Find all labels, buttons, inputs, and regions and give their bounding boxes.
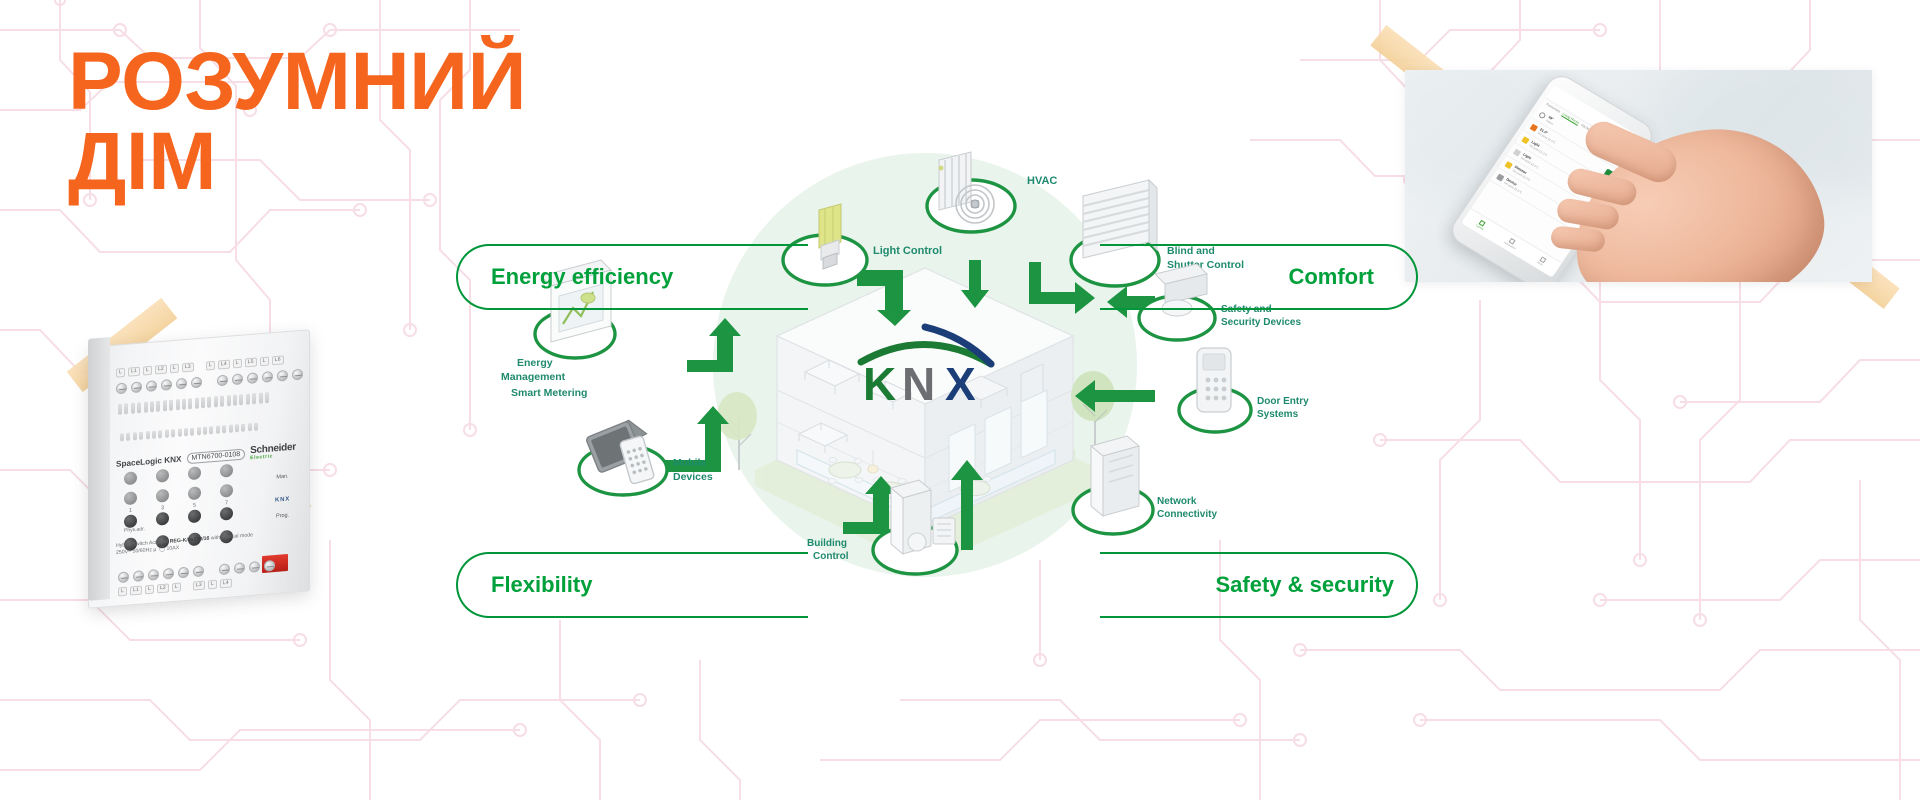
terminal-label: L6 [272,355,284,365]
screw-terminal [191,377,202,389]
node-hvac [927,152,1015,232]
terminal-label: L [145,585,154,595]
device-product-name: SpaceLogic KNX [116,455,182,469]
screw-terminal [234,562,245,574]
terminal-label: L [206,361,215,371]
button-number: 5 [188,502,201,509]
terminal-label: L [116,368,125,378]
knx-diagram-svg: HVAC Light Control [455,150,1465,580]
device-man-label: Man. [275,473,290,481]
label-door-2: Systems [1257,409,1299,420]
intercom-icon [1197,348,1231,412]
terminal-label: L [172,583,181,593]
label-safety-2: Security Devices [1221,317,1301,328]
screw-terminal [148,569,159,581]
screw-terminal [118,571,129,583]
pill-comfort[interactable]: Comfort [1100,244,1418,310]
indicator-dot [124,471,137,485]
device-knx-mark: KNX [275,497,290,506]
screw-terminal [131,381,142,393]
label-hvac: HVAC [1027,175,1057,187]
device-prog-label: Prog. [275,512,290,520]
label-energy-1: Energy [517,357,553,369]
terminal-label: L [143,366,152,376]
terminal-label: L [233,359,242,369]
headline-line-2: ДІМ [68,122,526,202]
footnote-part-4: 10AX [166,545,179,552]
screw-terminal [292,369,303,381]
screw-terminal [193,565,204,577]
terminal-label: L5 [245,358,257,368]
label-energy-3: Smart Metering [511,387,587,399]
button-number: 3 [156,505,169,512]
indicator-dot [124,491,137,505]
node-door-entry [1179,348,1251,432]
terminal-label: L [170,364,179,374]
knx-letter-k: K [863,358,896,410]
screw-terminal [146,380,157,392]
device-side-captions: Man. KNX Prog. [275,473,290,520]
screw-terminal [178,567,189,579]
terminal-label: L3 [182,362,194,372]
button-number: 7 [220,500,233,507]
page-title: РОЗУМНИЙ ДІМ [68,42,526,203]
screw-terminal [161,379,172,391]
knx-letter-n: N [902,358,935,410]
pill-comfort-label: Comfort [1288,264,1374,290]
label-door-1: Door Entry [1257,396,1309,407]
screw-terminal [116,382,127,394]
label-mobile-1: Mobile [673,457,706,469]
screw-terminal [277,370,288,382]
label-network-1: Network [1157,496,1197,507]
flame-icon [1530,124,1539,132]
screw-terminal [232,373,243,385]
terminal-label: L [260,357,269,367]
indicator-dot [188,486,201,500]
screw-terminal [133,570,144,582]
pill-flexibility-label: Flexibility [491,572,592,598]
terminal-label: L [118,587,127,597]
thermostat-icon [1538,111,1547,119]
device-left-rail [88,337,110,601]
indicator-dot [156,469,169,483]
indicator-dot [220,484,233,498]
pill-energy-label: Energy efficiency [491,264,673,290]
terminal-label: L3 [193,581,205,591]
pill-safety-security[interactable]: Safety & security [1100,552,1418,618]
screw-terminal [217,375,228,387]
nav-more[interactable]: More [1522,245,1562,277]
server-rack-icon [1091,436,1139,516]
knx-actuator-device: L L1 L L2 L L3 L L4 L L5 L L6 [88,338,310,600]
screw-terminal [249,561,260,573]
label-building-1: Building [807,538,847,549]
screw-terminal [262,371,273,383]
screw-terminal [176,378,187,390]
terminal-label: L2 [155,365,167,375]
push-button[interactable] [220,507,233,521]
terminal-label: L2 [157,583,169,593]
terminal-label: L4 [220,579,232,589]
terminal-label: L1 [130,586,142,596]
screw-terminal [247,372,258,384]
indicator-dot [156,489,169,503]
terminal-label: L4 [218,360,230,370]
label-network-2: Connectivity [1157,509,1217,520]
button-number: 1 [124,507,137,514]
bulb-icon [1513,149,1522,157]
pill-energy-efficiency[interactable]: Energy efficiency [456,244,808,310]
pill-flexibility[interactable]: Flexibility [456,552,808,618]
dimmer-icon [1504,161,1513,169]
push-button[interactable] [188,509,201,523]
headline-line-1: РОЗУМНИЙ [68,42,526,122]
terminal-label: L1 [128,367,140,377]
label-mobile-2: Devices [673,471,713,483]
screw-terminal [219,563,230,575]
knx-letter-x: X [945,358,976,410]
label-energy-2: Management [501,371,566,383]
indicator-dot [220,464,233,478]
smartphone-app-photo: Favourites Living Room Kitchen 19° Indoo… [1405,70,1872,282]
device-product-code: MTN6700-0108 [187,449,246,465]
label-light-control: Light Control [873,245,942,257]
device-icon [1496,174,1505,182]
bulb-icon [1521,136,1530,144]
pill-safety-label: Safety & security [1215,572,1394,598]
label-building-2: Control [813,551,849,562]
screw-terminal [264,560,275,572]
screw-terminal [163,568,174,580]
terminal-label: L [208,580,217,590]
push-button[interactable] [156,512,169,526]
node-mobile-devices [579,418,667,495]
banner-stage: РОЗУМНИЙ ДІМ L L1 L L2 L L3 L L4 L L5 L … [0,0,1920,800]
knx-smart-home-diagram: HVAC Light Control [455,150,1465,580]
indicator-dot [188,466,201,480]
